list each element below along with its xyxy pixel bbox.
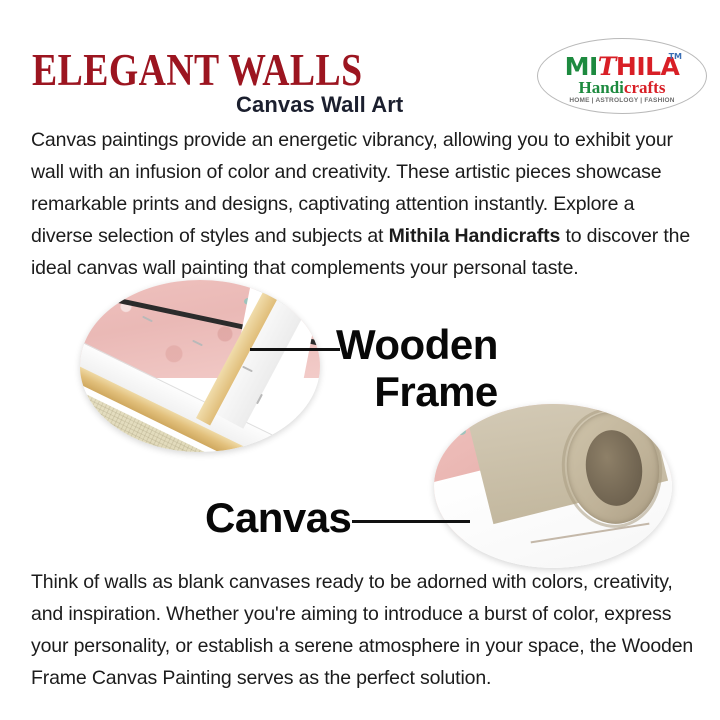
intro-paragraph: Canvas paintings provide an energetic vi… xyxy=(31,124,696,284)
logo-sub-part-2: crafts xyxy=(624,78,666,97)
canvas-label: Canvas xyxy=(205,497,351,539)
wooden-frame-label-line1: Wooden xyxy=(336,321,498,368)
wooden-frame-leader-line xyxy=(250,348,340,351)
artwork-leaf-icon xyxy=(442,420,456,429)
closing-paragraph: Think of walls as blank canvases ready t… xyxy=(31,566,701,694)
mithila-handicrafts-logo: MITHILA TM Handicrafts HOME | ASTROLOGY … xyxy=(537,38,707,114)
artwork-leaf-icon xyxy=(456,428,466,435)
wooden-frame-photo-inner xyxy=(80,280,320,452)
logo-sub-part-1: Handi xyxy=(579,78,624,97)
wooden-frame-photo xyxy=(80,280,320,452)
canvas-leader-line xyxy=(352,520,470,523)
brand-mention: Mithila Handicrafts xyxy=(389,225,561,247)
page-subtitle: Canvas Wall Art xyxy=(236,94,403,116)
logo-tagline: HOME | ASTROLOGY | FASHION xyxy=(538,97,706,104)
page-title: ELEGANT WALLS xyxy=(32,47,363,93)
logo-word-part-1: MI xyxy=(565,52,598,81)
rolled-canvas-photo-inner xyxy=(434,404,672,568)
trademark-icon: TM xyxy=(669,52,682,61)
wooden-frame-label: WoodenFrame xyxy=(336,324,536,413)
rolled-canvas-photo xyxy=(434,404,672,568)
logo-word-part-t: T xyxy=(598,52,616,81)
poster-canvas: ELEGANT WALLS MITHILA TM Handicrafts HOM… xyxy=(0,0,720,720)
logo-subwordmark: Handicrafts xyxy=(538,79,706,96)
